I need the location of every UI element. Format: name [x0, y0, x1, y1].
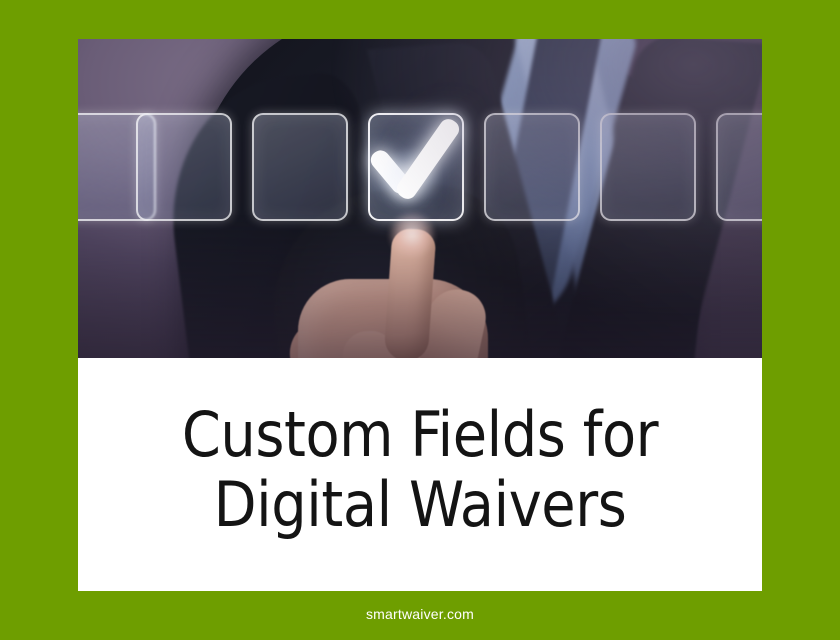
checkbox-square-2[interactable]	[136, 113, 232, 221]
checkbox-row	[78, 113, 762, 223]
poster-canvas: Custom Fields for Digital Waivers smartw…	[0, 0, 840, 640]
hero-photo	[78, 39, 762, 358]
white-content-card: Custom Fields for Digital Waivers	[78, 39, 762, 591]
checkbox-square-3[interactable]	[252, 113, 348, 221]
checkbox-square-7[interactable]	[716, 113, 762, 221]
footer-website-label: smartwaiver.com	[0, 606, 840, 622]
checkbox-square-5[interactable]	[484, 113, 580, 221]
page-title: Custom Fields for Digital Waivers	[182, 400, 658, 540]
checkbox-square-6[interactable]	[600, 113, 696, 221]
title-area: Custom Fields for Digital Waivers	[78, 358, 762, 591]
pointing-hand	[292, 235, 512, 358]
checkbox-square-4-checked[interactable]	[368, 113, 464, 221]
check-icon	[380, 117, 456, 187]
